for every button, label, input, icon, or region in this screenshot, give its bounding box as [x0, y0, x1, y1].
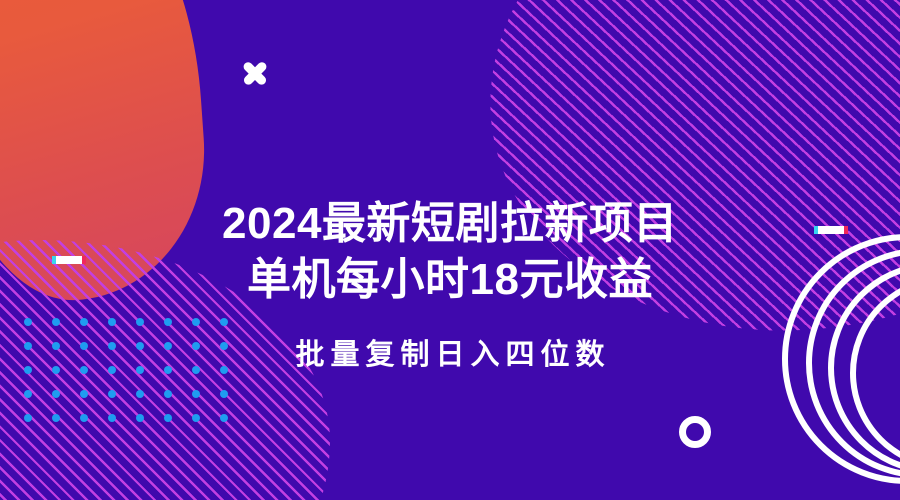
x-mark-icon — [241, 59, 269, 87]
headline-line-2: 单机每小时18元收益 — [0, 252, 900, 308]
headline-line-1: 2024最新短剧拉新项目 — [0, 196, 900, 252]
promo-poster: 2024最新短剧拉新项目 单机每小时18元收益 批量复制日入四位数 — [0, 0, 900, 500]
subheadline: 批量复制日入四位数 — [0, 331, 900, 373]
circle-ring-icon — [679, 416, 711, 448]
poster-text-block: 2024最新短剧拉新项目 单机每小时18元收益 批量复制日入四位数 — [0, 196, 900, 373]
